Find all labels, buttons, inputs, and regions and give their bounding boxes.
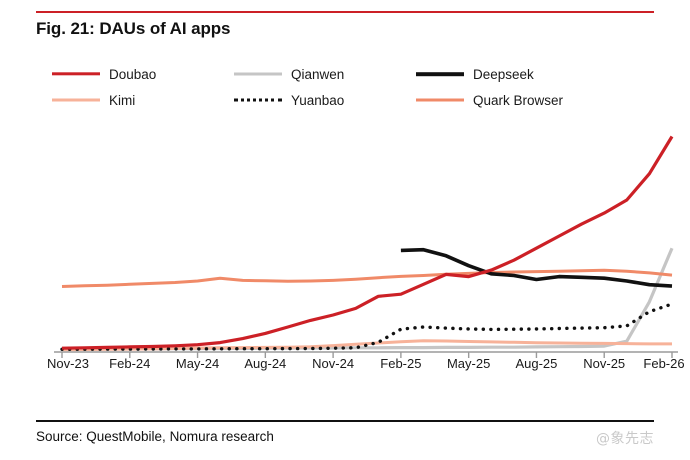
source-note: Source: QuestMobile, Nomura research xyxy=(36,429,274,444)
bottom-divider-rule xyxy=(36,420,654,422)
x-tick-label: Nov-23 xyxy=(47,356,89,371)
watermark-label: @象先志 xyxy=(596,428,654,448)
x-tick-label: Nov-24 xyxy=(312,356,354,371)
x-tick-label: Aug-24 xyxy=(244,356,286,371)
chart-plot-area: Nov-23Feb-24May-24Aug-24Nov-24Feb-25May-… xyxy=(0,0,690,400)
series-line-doubao xyxy=(62,137,672,349)
series-line-deepseek xyxy=(401,250,672,286)
x-axis-tick-labels: Nov-23Feb-24May-24Aug-24Nov-24Feb-25May-… xyxy=(0,356,690,376)
series-line-qianwen xyxy=(62,248,672,349)
x-tick-label: Feb-26 xyxy=(643,356,684,371)
x-tick-label: Nov-25 xyxy=(583,356,625,371)
line-chart-svg xyxy=(0,0,690,400)
x-tick-label: Feb-25 xyxy=(380,356,421,371)
figure-panel: Fig. 21: DAUs of AI apps DoubaoQianwenDe… xyxy=(0,0,690,460)
x-tick-label: May-25 xyxy=(447,356,490,371)
x-tick-label: May-24 xyxy=(176,356,219,371)
x-tick-label: Feb-24 xyxy=(109,356,150,371)
x-tick-label: Aug-25 xyxy=(515,356,557,371)
